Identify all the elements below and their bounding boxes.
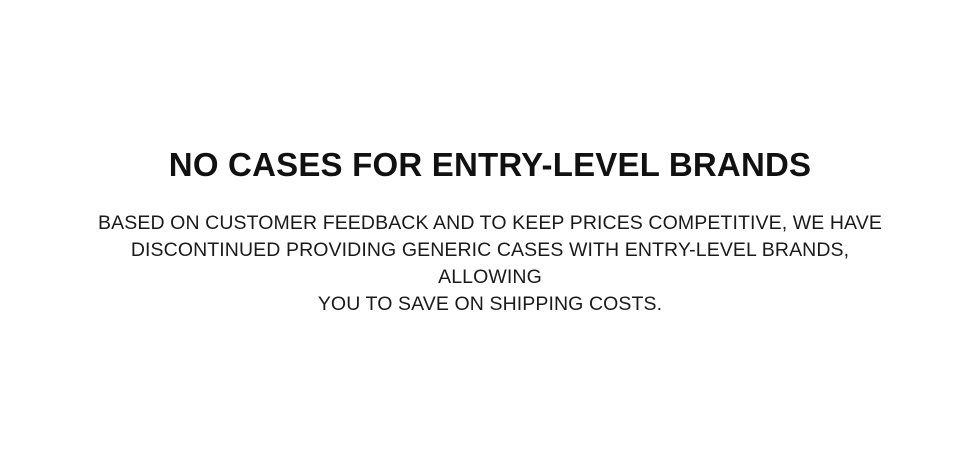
- notice-body-line: DISCONTINUED PROVIDING GENERIC CASES WIT…: [90, 237, 890, 291]
- notice-body-line: YOU TO SAVE ON SHIPPING COSTS.: [90, 291, 890, 318]
- notice-body-text: BASED ON CUSTOMER FEEDBACK AND TO KEEP P…: [90, 210, 890, 318]
- notice-heading: NO CASES FOR ENTRY-LEVEL BRANDS: [169, 146, 811, 184]
- notice-section: NO CASES FOR ENTRY-LEVEL BRANDS BASED ON…: [0, 0, 980, 450]
- notice-body-line: BASED ON CUSTOMER FEEDBACK AND TO KEEP P…: [90, 210, 890, 237]
- notice-content: NO CASES FOR ENTRY-LEVEL BRANDS BASED ON…: [0, 0, 980, 318]
